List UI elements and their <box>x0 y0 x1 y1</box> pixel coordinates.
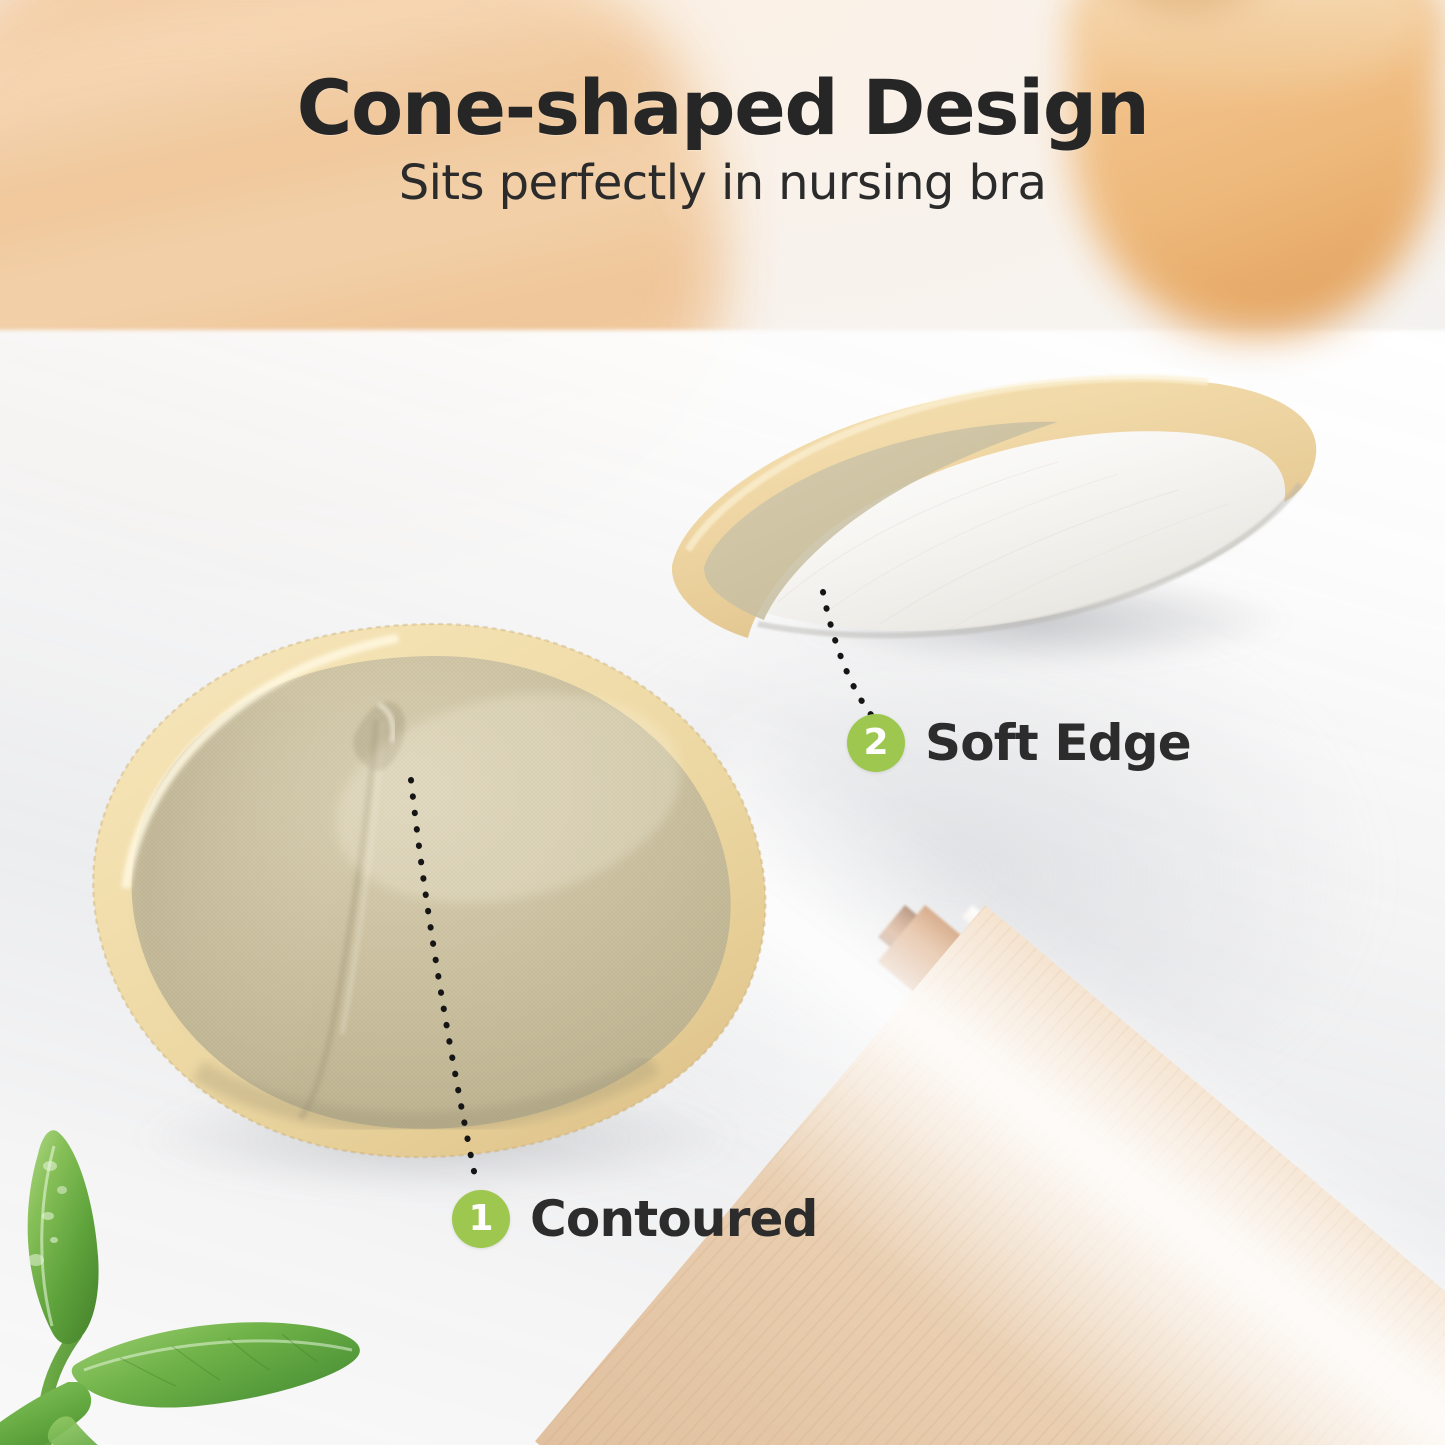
callout-badge-1: 1 <box>452 1190 510 1248</box>
bamboo-leaf-horizontal <box>72 1322 360 1407</box>
callout-contoured: 1 Contoured <box>452 1190 818 1248</box>
infographic-canvas: Cone-shaped Design Sits perfectly in nur… <box>0 0 1445 1445</box>
bamboo-leaf-upright <box>28 1130 99 1344</box>
callout-label-1: Contoured <box>530 1190 818 1248</box>
callout-badge-2: 2 <box>847 714 905 772</box>
bamboo-leaves <box>0 1120 410 1445</box>
bamboo-leaf-lower-right <box>48 1416 148 1445</box>
callout-soft-edge: 2 Soft Edge <box>847 714 1191 772</box>
callout-label-2: Soft Edge <box>925 714 1191 772</box>
